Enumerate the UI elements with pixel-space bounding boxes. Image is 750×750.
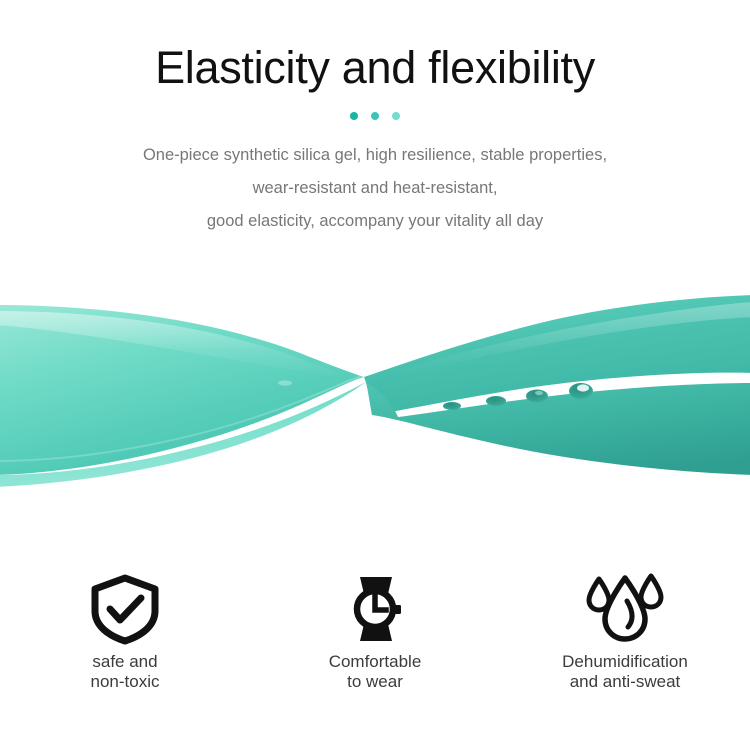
shield-outline (95, 578, 155, 641)
dot-separator (0, 111, 750, 121)
feature-label-line-1: safe and (91, 652, 160, 672)
header: Elasticity and flexibility One-piece syn… (0, 44, 750, 238)
feature-list: safe and non-toxic Comfortable to wear (0, 578, 750, 692)
twisted-band-illustration (0, 265, 750, 515)
droplet-inner-curve (627, 601, 632, 627)
subtitle-line-1: One-piece synthetic silica gel, high res… (0, 139, 750, 172)
separator-dot-3 (392, 112, 400, 120)
droplet-small-right (641, 576, 661, 607)
adjustment-hole-1 (443, 402, 461, 410)
feature-label-line-2: and anti-sweat (562, 672, 688, 692)
subtitle-line-2: wear-resistant and heat-resistant, (0, 172, 750, 205)
feature-safe-non-toxic: safe and non-toxic (0, 578, 250, 692)
product-image (0, 265, 750, 515)
shield-check-icon (87, 578, 163, 640)
feature-comfortable-to-wear: Comfortable to wear (250, 578, 500, 692)
feature-label-line-1: Comfortable (329, 652, 422, 672)
page-title: Elasticity and flexibility (0, 44, 750, 91)
wristwatch-icon (337, 578, 413, 640)
droplet-large (605, 578, 645, 639)
water-droplets-icon (581, 578, 669, 640)
feature-label-line-2: non-toxic (91, 672, 160, 692)
adjustment-hole-4-highlight (577, 384, 589, 391)
watch-crown (395, 605, 401, 614)
feature-dehumidification: Dehumidification and anti-sweat (500, 578, 750, 692)
subtitle-line-3: good elasticity, accompany your vitality… (0, 205, 750, 238)
feature-label-line-2: to wear (329, 672, 422, 692)
separator-dot-2 (371, 112, 379, 120)
feature-label-line-1: Dehumidification (562, 652, 688, 672)
check-mark (110, 598, 141, 620)
adjustment-hole-3-highlight (535, 391, 543, 395)
product-feature-page: Elasticity and flexibility One-piece syn… (0, 0, 750, 750)
feature-label-dehumidification: Dehumidification and anti-sweat (562, 652, 688, 692)
watch-hands (375, 596, 386, 610)
band-surface-gloss (278, 380, 292, 385)
separator-dot-1 (350, 112, 358, 120)
subtitle: One-piece synthetic silica gel, high res… (0, 139, 750, 238)
feature-label-safe-non-toxic: safe and non-toxic (91, 652, 160, 692)
adjustment-hole-2 (486, 396, 506, 406)
feature-label-comfortable-to-wear: Comfortable to wear (329, 652, 422, 692)
